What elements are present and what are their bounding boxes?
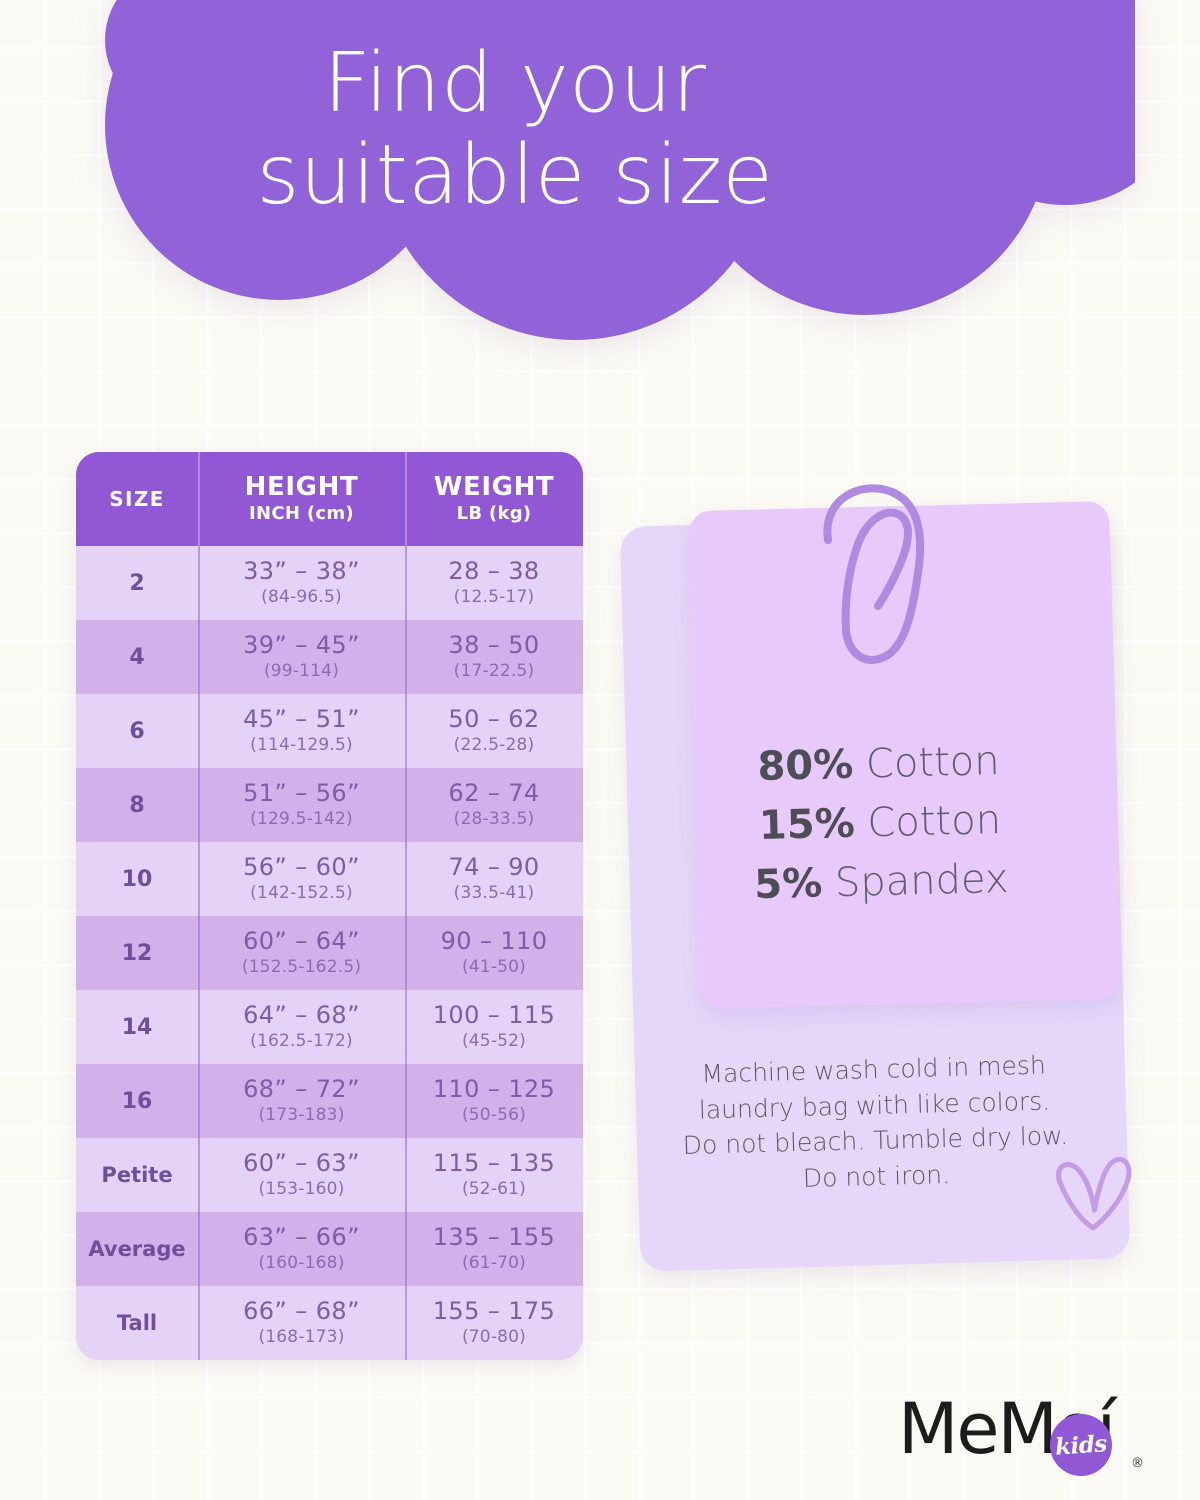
table-cell-size: 8	[76, 768, 198, 842]
height-cm: (168-173)	[258, 1327, 344, 1347]
table-cell-height: 68” – 72”(173-183)	[198, 1064, 405, 1138]
fabric-percent: 15%	[758, 801, 855, 849]
table-cell-size: 2	[76, 546, 198, 620]
kids-badge-label: kids	[1054, 1430, 1107, 1461]
weight-lb: 155 – 175	[433, 1299, 555, 1325]
table-cell-weight: 115 – 135(52-61)	[405, 1138, 583, 1212]
height-inches: 33” – 38”	[243, 559, 360, 585]
weight-kg: (17-22.5)	[454, 661, 535, 681]
table-cell-weight: 155 – 175(70-80)	[405, 1286, 583, 1360]
size-value: Tall	[117, 1311, 157, 1335]
height-cm: (142-152.5)	[250, 883, 353, 903]
fabric-percent: 5%	[754, 861, 823, 909]
table-header-weight-units: LB (kg)	[457, 503, 532, 525]
height-inches: 60” – 63”	[243, 1151, 360, 1177]
fabric-composition-list: 80% Cotton 15% Cotton 5% Spandex	[698, 731, 1062, 917]
weight-lb: 135 – 155	[433, 1225, 555, 1251]
weight-kg: (12.5-17)	[454, 587, 535, 607]
registered-trademark-mark: ®	[1131, 1456, 1144, 1471]
table-cell-height: 56” – 60”(142-152.5)	[198, 842, 405, 916]
size-value: 12	[122, 941, 153, 966]
fabric-material: Cotton	[867, 797, 1002, 846]
table-header-height-units: INCH (cm)	[249, 503, 354, 525]
size-chart-table: SIZE HEIGHT INCH (cm) WEIGHT LB (kg) 233…	[76, 452, 583, 1360]
fabric-line: 80% Cotton	[698, 731, 1059, 799]
height-cm: (162.5-172)	[250, 1031, 353, 1051]
table-row: Tall66” – 68”(168-173)155 – 175(70-80)	[76, 1286, 583, 1360]
weight-kg: (50-56)	[462, 1105, 526, 1125]
size-value: 8	[129, 793, 144, 818]
table-cell-weight: 28 – 38(12.5-17)	[405, 546, 583, 620]
table-header-height: HEIGHT INCH (cm)	[198, 452, 405, 546]
size-value: Petite	[101, 1163, 172, 1187]
table-row: 439” – 45”(99-114)38 – 50(17-22.5)	[76, 620, 583, 694]
table-cell-weight: 100 – 115(45-52)	[405, 990, 583, 1064]
table-cell-height: 33” – 38”(84-96.5)	[198, 546, 405, 620]
memoi-kids-logo: MeMoí kids ®	[898, 1392, 1148, 1484]
table-row: 1056” – 60”(142-152.5)74 – 90(33.5-41)	[76, 842, 583, 916]
table-cell-height: 51” – 56”(129.5-142)	[198, 768, 405, 842]
size-value: 4	[129, 645, 144, 670]
height-inches: 63” – 66”	[243, 1225, 360, 1251]
table-cell-height: 64” – 68”(162.5-172)	[198, 990, 405, 1064]
table-cell-size: 16	[76, 1064, 198, 1138]
table-row: 645” – 51”(114-129.5)50 – 62(22.5-28)	[76, 694, 583, 768]
size-value: 2	[129, 571, 144, 596]
weight-lb: 110 – 125	[433, 1077, 555, 1103]
weight-lb: 115 – 135	[433, 1151, 555, 1177]
fabric-line: 5% Spandex	[701, 849, 1062, 917]
height-cm: (99-114)	[264, 661, 339, 681]
table-header-row: SIZE HEIGHT INCH (cm) WEIGHT LB (kg)	[76, 452, 583, 546]
table-row: 233” – 38”(84-96.5)28 – 38(12.5-17)	[76, 546, 583, 620]
weight-kg: (61-70)	[462, 1253, 526, 1273]
table-cell-weight: 90 – 110(41-50)	[405, 916, 583, 990]
height-cm: (160-168)	[258, 1253, 344, 1273]
cloud-shape-svg	[105, 0, 1135, 385]
height-cm: (129.5-142)	[250, 809, 353, 829]
weight-kg: (41-50)	[462, 957, 526, 977]
table-cell-size: 14	[76, 990, 198, 1064]
table-cell-weight: 135 – 155(61-70)	[405, 1212, 583, 1286]
cloud-banner	[105, 0, 1135, 385]
table-row: 1260” – 64”(152.5-162.5)90 – 110(41-50)	[76, 916, 583, 990]
size-value: Average	[88, 1237, 185, 1261]
table-cell-weight: 74 – 90(33.5-41)	[405, 842, 583, 916]
weight-kg: (52-61)	[462, 1179, 526, 1199]
height-inches: 64” – 68”	[243, 1003, 360, 1029]
table-row: Petite60” – 63”(153-160)115 – 135(52-61)	[76, 1138, 583, 1212]
table-cell-size: 12	[76, 916, 198, 990]
table-cell-size: Average	[76, 1212, 198, 1286]
table-header-size: SIZE	[76, 452, 198, 546]
table-cell-weight: 62 – 74(28-33.5)	[405, 768, 583, 842]
weight-kg: (33.5-41)	[454, 883, 535, 903]
table-cell-size: Tall	[76, 1286, 198, 1360]
table-cell-weight: 110 – 125(50-56)	[405, 1064, 583, 1138]
height-inches: 68” – 72”	[243, 1077, 360, 1103]
care-instructions: Machine wash cold in mesh laundry bag wi…	[658, 1046, 1092, 1199]
height-inches: 56” – 60”	[243, 855, 360, 881]
table-cell-weight: 38 – 50(17-22.5)	[405, 620, 583, 694]
size-value: 16	[122, 1089, 153, 1114]
table-cell-size: 4	[76, 620, 198, 694]
table-header-weight: WEIGHT LB (kg)	[405, 452, 583, 546]
size-value: 10	[122, 867, 153, 892]
size-value: 14	[122, 1015, 153, 1040]
height-inches: 66” – 68”	[243, 1299, 360, 1325]
weight-lb: 38 – 50	[448, 633, 539, 659]
height-inches: 51” – 56”	[243, 781, 360, 807]
fabric-line: 15% Cotton	[699, 790, 1060, 858]
table-header-size-label: SIZE	[109, 487, 165, 511]
table-row: Average63” – 66”(160-168)135 – 155(61-70…	[76, 1212, 583, 1286]
table-row: 1464” – 68”(162.5-172)100 – 115(45-52)	[76, 990, 583, 1064]
weight-lb: 74 – 90	[448, 855, 539, 881]
weight-lb: 90 – 110	[441, 929, 548, 955]
weight-kg: (70-80)	[462, 1327, 526, 1347]
height-inches: 39” – 45”	[243, 633, 360, 659]
weight-lb: 50 – 62	[448, 707, 539, 733]
height-cm: (114-129.5)	[250, 735, 353, 755]
paperclip-icon	[800, 478, 950, 678]
table-cell-size: Petite	[76, 1138, 198, 1212]
table-row: 1668” – 72”(173-183)110 – 125(50-56)	[76, 1064, 583, 1138]
weight-kg: (45-52)	[462, 1031, 526, 1051]
table-row: 851” – 56”(129.5-142)62 – 74(28-33.5)	[76, 768, 583, 842]
weight-lb: 100 – 115	[433, 1003, 555, 1029]
table-cell-size: 10	[76, 842, 198, 916]
table-header-weight-label: WEIGHT	[434, 473, 555, 502]
weight-lb: 62 – 74	[448, 781, 539, 807]
fabric-material: Spandex	[834, 856, 1009, 906]
kids-badge: kids	[1050, 1414, 1112, 1476]
height-cm: (153-160)	[258, 1179, 344, 1199]
table-body: 233” – 38”(84-96.5)28 – 38(12.5-17)439” …	[76, 546, 583, 1360]
height-inches: 60” – 64”	[243, 929, 360, 955]
table-cell-height: 66” – 68”(168-173)	[198, 1286, 405, 1360]
height-cm: (84-96.5)	[261, 587, 342, 607]
size-value: 6	[129, 719, 144, 744]
fabric-percent: 80%	[757, 742, 854, 790]
table-cell-height: 60” – 63”(153-160)	[198, 1138, 405, 1212]
table-header-height-label: HEIGHT	[245, 473, 359, 502]
height-cm: (173-183)	[258, 1105, 344, 1125]
table-cell-height: 60” – 64”(152.5-162.5)	[198, 916, 405, 990]
weight-lb: 28 – 38	[448, 559, 539, 585]
height-inches: 45” – 51”	[243, 707, 360, 733]
fabric-material: Cotton	[865, 738, 1000, 787]
table-cell-weight: 50 – 62(22.5-28)	[405, 694, 583, 768]
table-cell-height: 45” – 51”(114-129.5)	[198, 694, 405, 768]
height-cm: (152.5-162.5)	[242, 957, 361, 977]
weight-kg: (22.5-28)	[454, 735, 535, 755]
table-cell-height: 63” – 66”(160-168)	[198, 1212, 405, 1286]
table-cell-height: 39” – 45”(99-114)	[198, 620, 405, 694]
weight-kg: (28-33.5)	[454, 809, 535, 829]
table-cell-size: 6	[76, 694, 198, 768]
